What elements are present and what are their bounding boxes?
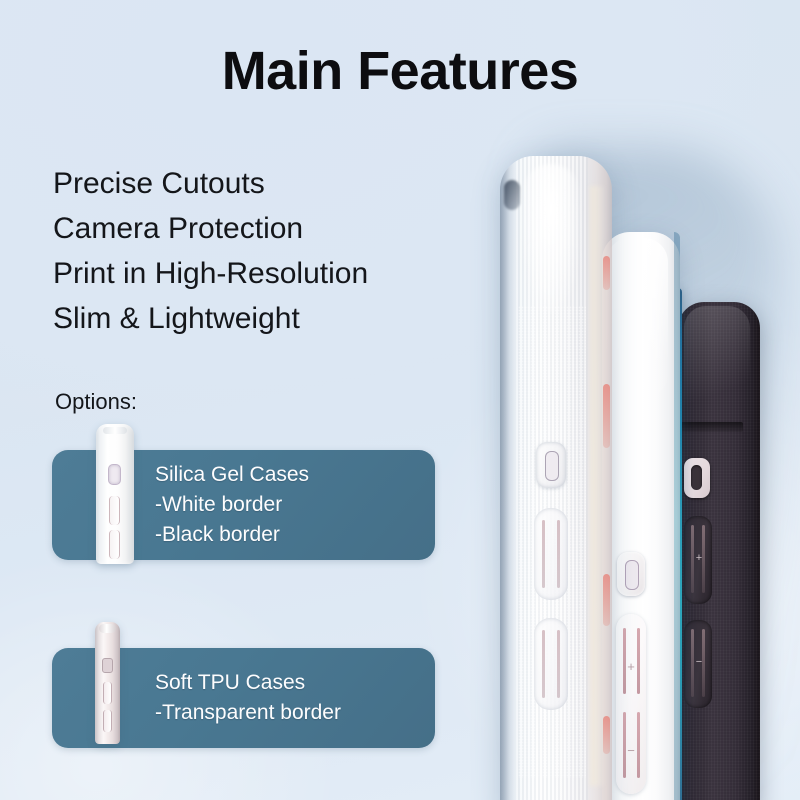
volume-up-button-icon — [109, 496, 120, 525]
option-card-bullet: -Black border — [155, 520, 420, 550]
button-edge — [557, 630, 560, 698]
printed-accent-edge — [603, 384, 610, 448]
feature-item: Camera Protection — [53, 206, 473, 251]
mute-switch-cutout — [684, 458, 710, 498]
option-card-text: Silica Gel Cases -White border -Black bo… — [155, 460, 420, 550]
case-specular-highlight — [522, 164, 580, 314]
mute-switch-cutout — [617, 552, 645, 596]
option-card-bullet: -White border — [155, 490, 420, 520]
phone-top-edge — [103, 427, 127, 434]
feature-item: Precise Cutouts — [53, 161, 473, 206]
option-card-heading: Silica Gel Cases — [155, 460, 420, 490]
transparent-frosted-case — [500, 156, 612, 800]
button-edge — [542, 630, 545, 698]
white-phone-case-thumbnail — [96, 424, 134, 564]
volume-button-cutout: + − — [616, 614, 646, 794]
volume-down-button-icon — [109, 530, 120, 559]
option-card-text: Soft TPU Cases -Transparent border — [155, 668, 420, 728]
case-camera-lip — [681, 422, 743, 432]
camera-cutout-shadow — [504, 180, 520, 210]
mute-switch-icon — [108, 464, 121, 485]
volume-up-symbol: + — [616, 662, 646, 672]
options-label: Options: — [55, 389, 137, 415]
volume-down-button-cutout: − — [684, 620, 712, 708]
button-edge — [637, 712, 640, 778]
button-edge — [542, 520, 545, 588]
black-border-case: + − — [678, 302, 760, 800]
case-left-rim — [500, 156, 514, 800]
feature-item: Slim & Lightweight — [53, 296, 473, 341]
option-card-bullet: -Transparent border — [155, 698, 420, 728]
phone-top-edge — [99, 624, 116, 633]
button-edge — [691, 629, 694, 697]
button-edge — [623, 712, 626, 778]
volume-up-button-icon — [103, 682, 112, 704]
button-edge — [557, 520, 560, 588]
button-edge — [637, 628, 640, 694]
printed-edge-strip — [674, 232, 680, 800]
volume-down-button-icon — [103, 710, 112, 732]
mute-switch-slot — [691, 465, 702, 490]
volume-up-symbol: + — [695, 554, 703, 562]
mute-switch-icon — [102, 658, 113, 673]
option-card-heading: Soft TPU Cases — [155, 668, 420, 698]
white-border-case: + − — [602, 232, 680, 800]
printed-accent-edge — [603, 256, 610, 290]
printed-accent-edge — [603, 716, 610, 754]
button-edge — [691, 525, 694, 593]
product-feature-banner: Main Features Precise Cutouts Camera Pro… — [0, 0, 800, 800]
volume-down-symbol: − — [616, 746, 646, 756]
button-edge — [623, 628, 626, 694]
volume-down-symbol: − — [695, 658, 703, 666]
feature-item: Print in High-Resolution — [53, 251, 473, 296]
case-cream-inner-edge — [590, 186, 604, 786]
page-title: Main Features — [0, 44, 800, 98]
volume-up-button-cutout: + — [684, 516, 712, 604]
volume-up-button-cutout — [534, 508, 568, 600]
volume-down-button-cutout — [534, 618, 568, 710]
product-image-stack: + − + − — [470, 120, 800, 800]
mute-switch-cutout — [536, 442, 566, 488]
mute-switch-slot — [545, 451, 559, 481]
silver-phone-case-thumbnail — [95, 622, 120, 744]
feature-list: Precise Cutouts Camera Protection Print … — [53, 161, 473, 341]
case-highlight — [606, 238, 668, 398]
mute-switch-slot — [625, 560, 639, 590]
printed-accent-edge — [603, 574, 610, 626]
case-highlight — [684, 306, 750, 426]
